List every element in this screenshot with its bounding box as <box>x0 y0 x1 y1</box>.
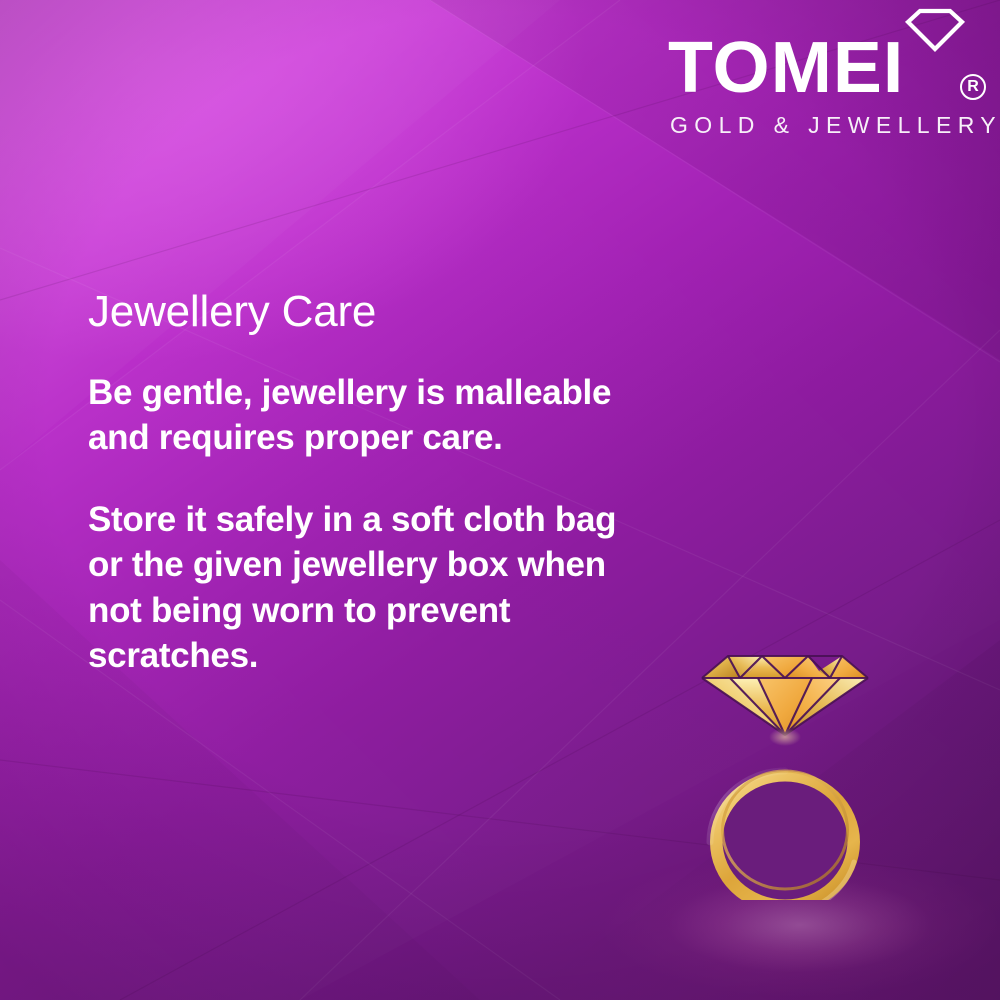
gold-diamond-icon <box>702 656 868 746</box>
brand-tagline: GOLD & JEWELLERY <box>670 112 1000 139</box>
gold-ring-band-icon <box>710 771 860 900</box>
care-paragraph-1: Be gentle, jewellery is malleable and re… <box>88 370 633 461</box>
registered-trademark-icon: R <box>960 74 986 100</box>
copy-block: Jewellery Care Be gentle, jewellery is m… <box>88 288 648 679</box>
care-paragraph-2: Store it safely in a soft cloth bag or t… <box>88 497 633 679</box>
diamond-ring-illustration <box>690 640 880 900</box>
page-title: Jewellery Care <box>88 288 648 336</box>
jewellery-care-poster: TOMEI R GOLD & JEWELLERY Jewellery Care … <box>0 0 1000 1000</box>
brand-logo: TOMEI R GOLD & JEWELLERY <box>660 8 990 136</box>
wordmark-tomei: TOMEI <box>668 34 974 102</box>
